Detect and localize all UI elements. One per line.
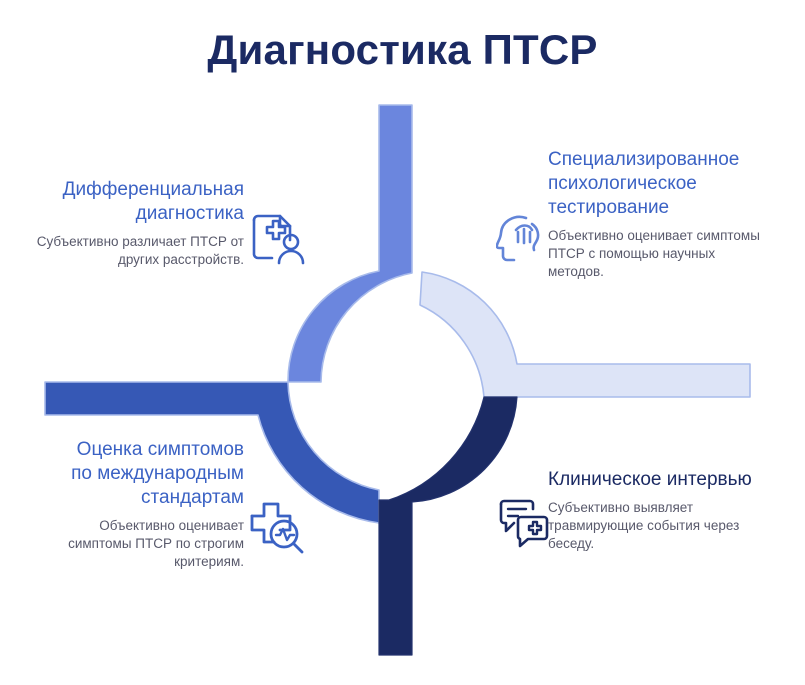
document-person-icon	[250, 214, 306, 271]
block-testing: Специализированное психологическое тести…	[548, 148, 773, 281]
block-standards: Оценка симптомов по международным станда…	[56, 438, 244, 571]
block-interview: Клиническое интервью Субъективно выявляе…	[548, 468, 778, 553]
segment-top-left	[288, 105, 412, 382]
block-interview-body: Субъективно выявляет травмирующие событи…	[548, 499, 778, 553]
cross-magnifier-icon	[250, 500, 304, 559]
speech-bubbles-icon	[498, 498, 550, 553]
segment-top-right	[420, 272, 750, 397]
block-standards-heading: Оценка симптомов по международным станда…	[56, 438, 244, 510]
block-differential-body: Субъективно различает ПТСР от других рас…	[18, 233, 244, 269]
infographic-canvas: Диагностика ПТСР	[0, 0, 805, 685]
quadrant-ring-diagram	[0, 0, 805, 685]
block-differential: Дифференциальная диагностика Субъективно…	[18, 178, 244, 269]
block-interview-heading: Клиническое интервью	[548, 468, 778, 492]
block-testing-heading: Специализированное психологическое тести…	[548, 148, 773, 220]
segment-bottom-right	[379, 397, 517, 655]
block-testing-body: Объективно оценивает симптомы ПТСР с пом…	[548, 227, 773, 281]
head-brain-icon	[496, 212, 546, 271]
block-standards-body: Объективно оценивает симптомы ПТСР по ст…	[56, 517, 244, 571]
block-differential-heading: Дифференциальная диагностика	[18, 178, 244, 226]
